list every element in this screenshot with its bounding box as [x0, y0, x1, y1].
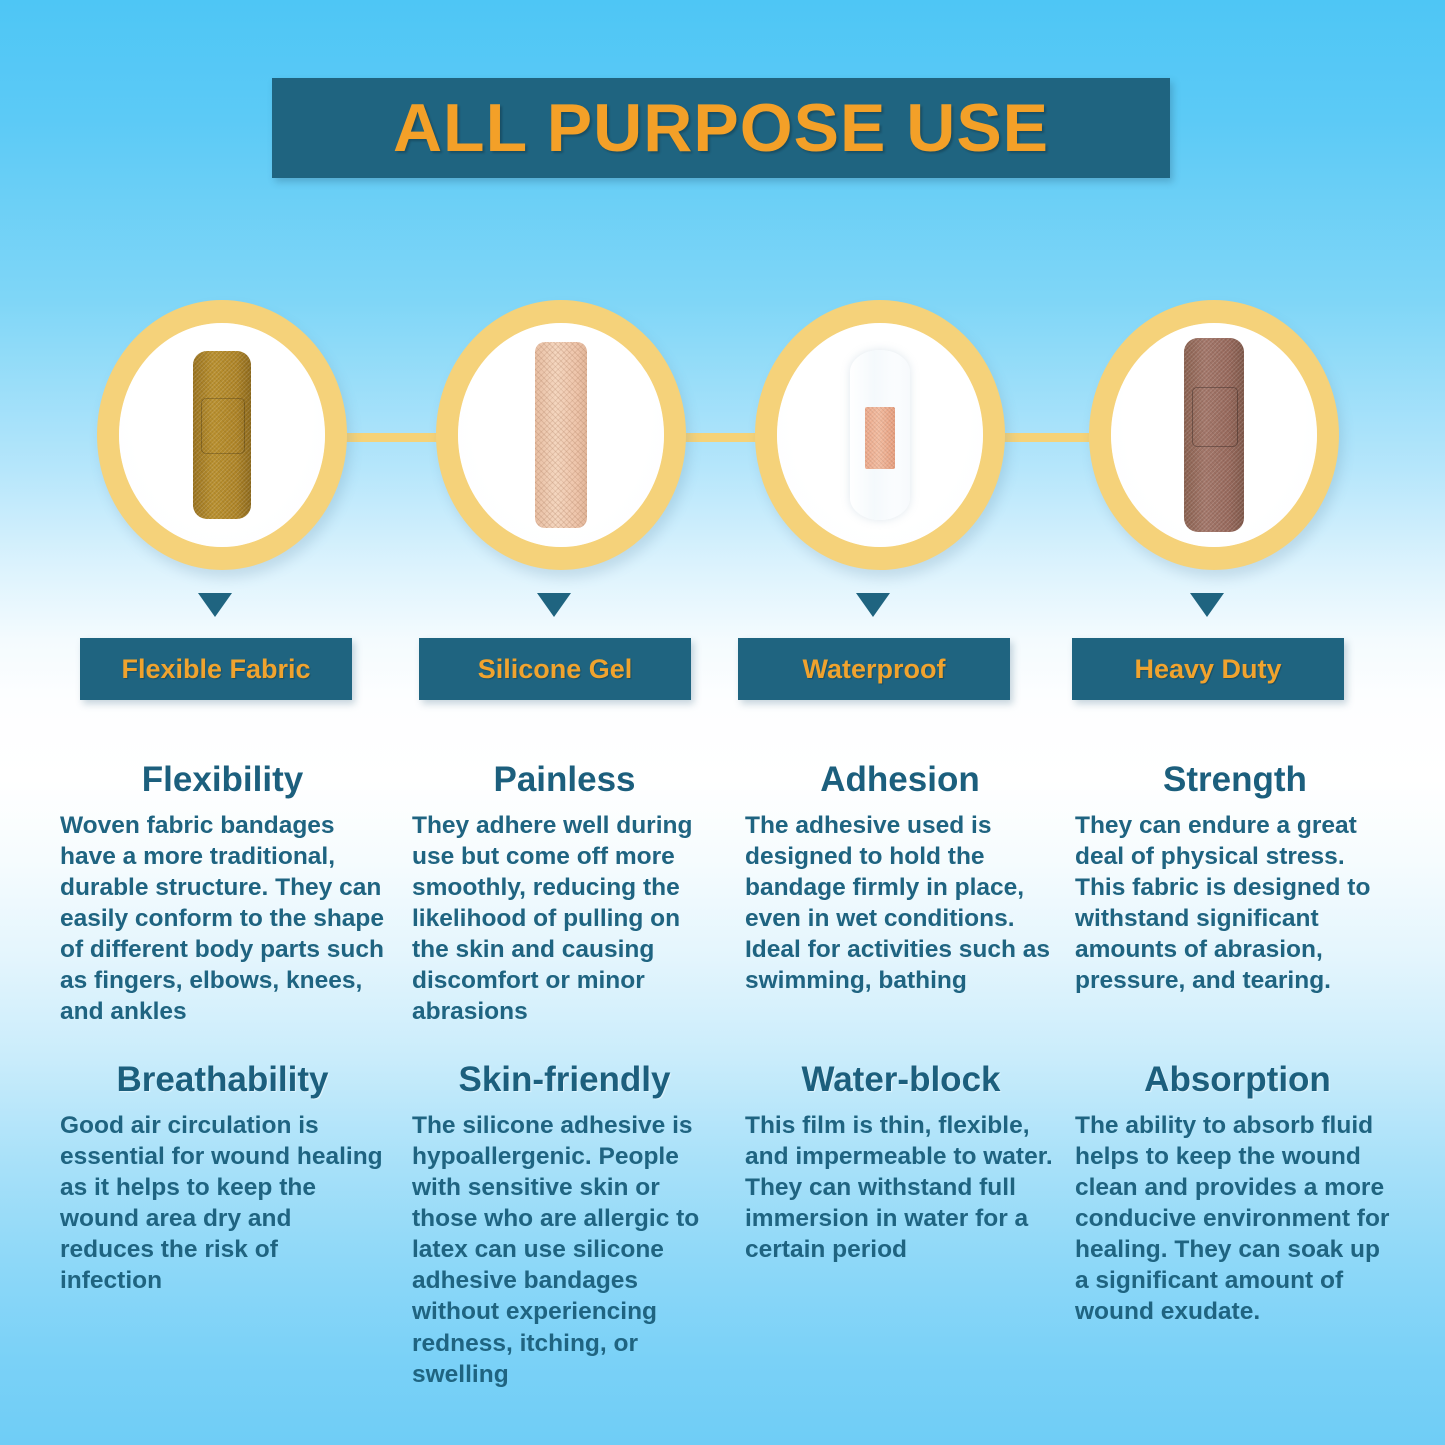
feature-strength: Strength They can endure a great deal of…: [1075, 762, 1395, 996]
feature-heading: Skin-friendly: [412, 1062, 717, 1099]
feature-heading: Breathability: [60, 1062, 385, 1099]
page-title-banner: ALL PURPOSE USE: [272, 78, 1170, 178]
product-label-heavy-duty[interactable]: Heavy Duty: [1072, 638, 1344, 700]
feature-body: They adhere well during use but come off…: [412, 810, 717, 1028]
arrow-down-icon-1: [198, 593, 232, 617]
circle-inner-3: [777, 323, 983, 547]
page-title: ALL PURPOSE USE: [393, 89, 1049, 167]
feature-body: This film is thin, flexible, and imperme…: [745, 1110, 1057, 1266]
feature-heading: Strength: [1075, 762, 1395, 799]
feature-body: Woven fabric bandages have a more tradit…: [60, 810, 385, 1028]
infographic-poster: ALL PURPOSE USE: [0, 0, 1445, 1445]
product-circle-silicone-gel[interactable]: [436, 300, 686, 570]
product-circle-flexible-fabric[interactable]: [97, 300, 347, 570]
product-label-flexible-fabric[interactable]: Flexible Fabric: [80, 638, 352, 700]
feature-heading: Absorption: [1075, 1062, 1400, 1099]
arrow-down-icon-2: [537, 593, 571, 617]
feature-breathability: Breathability Good air circulation is es…: [60, 1062, 385, 1296]
feature-skin-friendly: Skin-friendly The silicone adhesive is h…: [412, 1062, 717, 1390]
waterproof-film-bandage-icon: [841, 350, 919, 520]
feature-heading: Water-block: [745, 1062, 1057, 1099]
product-label-text: Heavy Duty: [1134, 654, 1281, 685]
heavy-duty-bandage-icon: [1184, 338, 1244, 532]
feature-absorption: Absorption The ability to absorb fluid h…: [1075, 1062, 1400, 1328]
product-label-silicone-gel[interactable]: Silicone Gel: [419, 638, 691, 700]
feature-body: The silicone adhesive is hypoallergenic.…: [412, 1110, 717, 1390]
feature-heading: Adhesion: [745, 762, 1055, 799]
feature-flexibility: Flexibility Woven fabric bandages have a…: [60, 762, 385, 1028]
feature-adhesion: Adhesion The adhesive used is designed t…: [745, 762, 1055, 996]
fabric-bandage-icon: [193, 351, 251, 519]
circle-inner-4: [1111, 323, 1317, 547]
circle-inner-1: [119, 323, 325, 547]
feature-heading: Painless: [412, 762, 717, 799]
product-circle-heavy-duty[interactable]: [1089, 300, 1339, 570]
feature-water-block: Water-block This film is thin, flexible,…: [745, 1062, 1057, 1265]
product-circle-waterproof[interactable]: [755, 300, 1005, 570]
feature-body: Good air circulation is essential for wo…: [60, 1110, 385, 1297]
arrow-down-icon-4: [1190, 593, 1224, 617]
feature-body: They can endure a great deal of physical…: [1075, 810, 1395, 997]
arrow-down-icon-3: [856, 593, 890, 617]
feature-body: The ability to absorb fluid helps to kee…: [1075, 1110, 1400, 1328]
feature-body: The adhesive used is designed to hold th…: [745, 810, 1055, 997]
product-label-text: Waterproof: [803, 654, 946, 685]
feature-painless: Painless They adhere well during use but…: [412, 762, 717, 1028]
product-label-text: Flexible Fabric: [121, 654, 310, 685]
product-label-waterproof[interactable]: Waterproof: [738, 638, 1010, 700]
product-label-text: Silicone Gel: [478, 654, 633, 685]
feature-heading: Flexibility: [60, 762, 385, 799]
silicone-gel-bandage-icon: [535, 342, 587, 528]
circle-inner-2: [458, 323, 664, 547]
